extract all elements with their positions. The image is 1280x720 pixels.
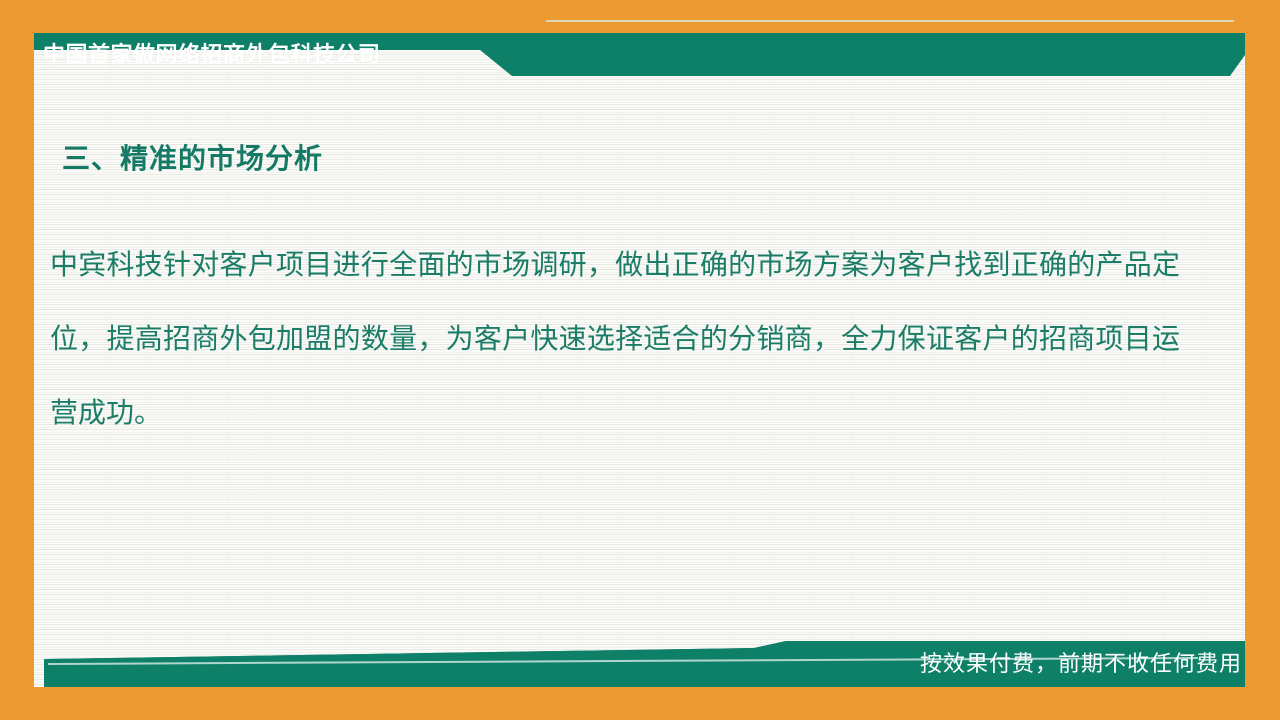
body-copy: 中宾科技针对客户项目进行全面的市场调研，做出正确的市场方案为客户找到正确的产品定… xyxy=(50,228,1180,450)
slide-canvas: 中国首家做网络招商外包科技公司 三、精准的市场分析 中宾科技针对客户项目进行全面… xyxy=(0,0,1280,720)
header-band: 中国首家做网络招商外包科技公司 xyxy=(34,33,1245,76)
header-hairline-divider xyxy=(546,20,1234,22)
header-title: 中国首家做网络招商外包科技公司 xyxy=(43,33,381,76)
footer-tagline: 按效果付费，前期不收任何费用 xyxy=(920,641,1242,687)
section-heading: 三、精准的市场分析 xyxy=(62,137,323,177)
body-paragraph: 中宾科技针对客户项目进行全面的市场调研，做出正确的市场方案为客户找到正确的产品定… xyxy=(50,228,1180,450)
